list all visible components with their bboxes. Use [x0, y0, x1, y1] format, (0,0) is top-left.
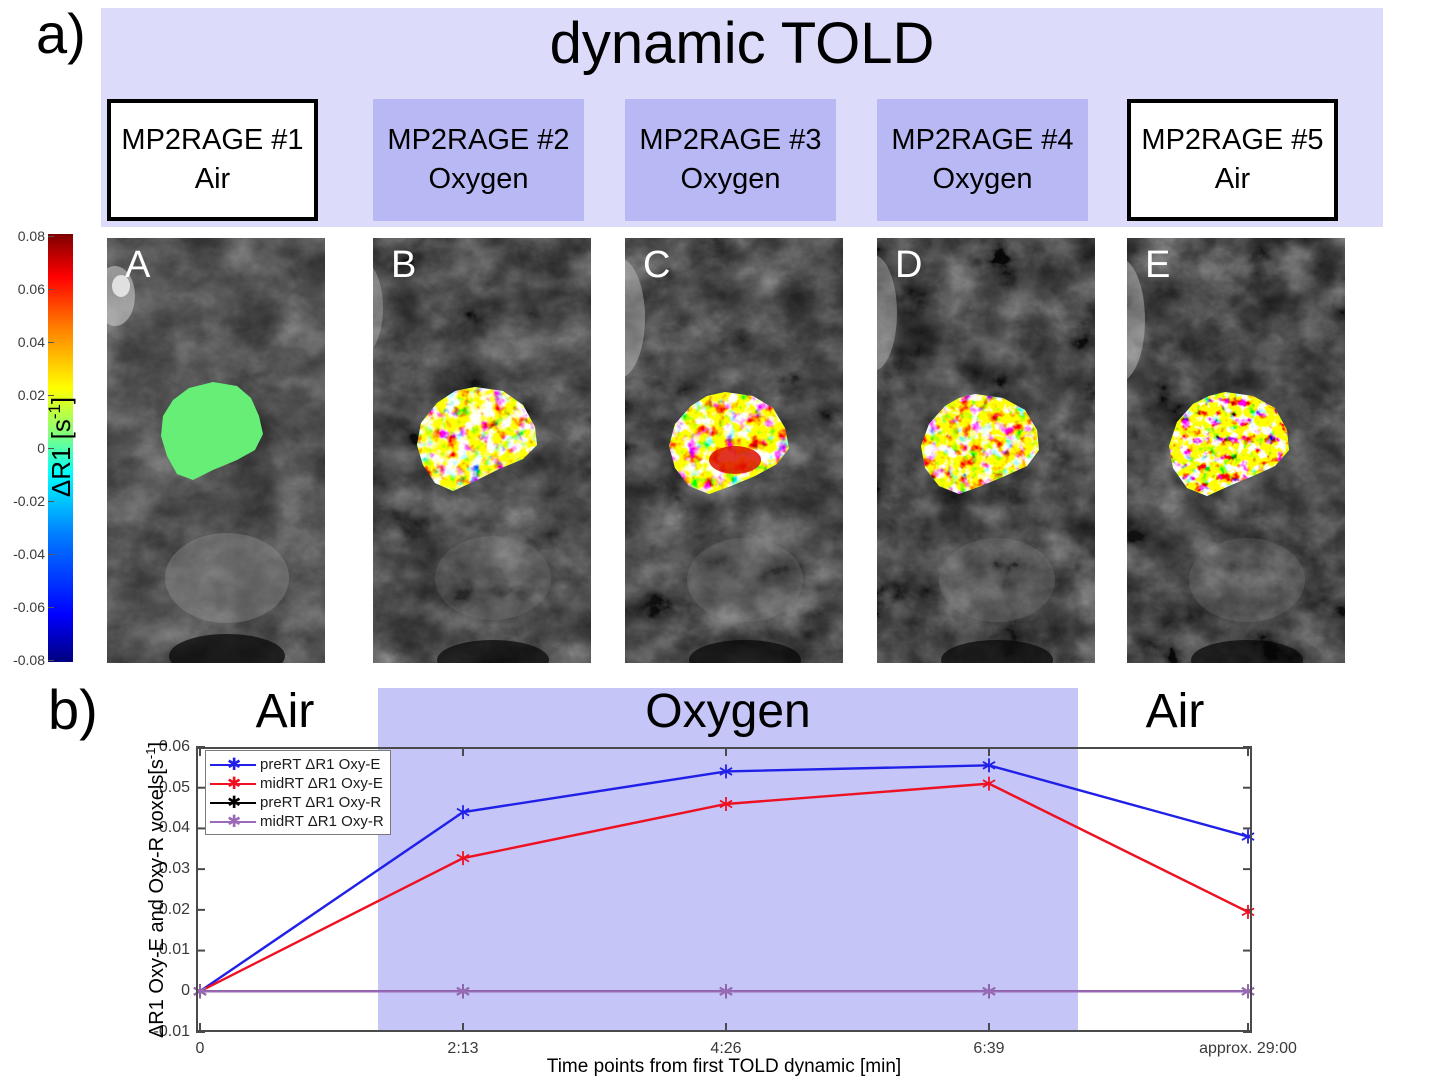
colorbar-tick-mark — [48, 236, 54, 237]
mri-panel-letter-c: C — [643, 246, 670, 284]
mp2rage-box-2: MP2RAGE #2 Oxygen — [373, 99, 584, 221]
colorbar-tick-mark — [48, 554, 54, 555]
colorbar: 0.08 0.06 0.04 0.02 0 -0.02 -0.04 -0.06 … — [0, 232, 101, 664]
mri-tile-c: C — [625, 238, 843, 663]
x-axis-title: Time points from first TOLD dynamic [min… — [196, 1056, 1252, 1078]
colorbar-tick-label: 0.08 — [18, 228, 45, 244]
colorbar-tick-mark — [48, 501, 54, 502]
mp2rage-gas-label: Oxygen — [681, 160, 781, 199]
legend-swatch: ✱ — [210, 796, 256, 810]
colorbar-tick-mark — [48, 289, 54, 290]
panel-b-label: b) — [48, 682, 98, 738]
colorbar-tick-mark — [48, 607, 54, 608]
chart-legend: ✱ preRT ΔR1 Oxy-E ✱ midRT ΔR1 Oxy-E ✱ pr… — [205, 750, 391, 835]
legend-label: preRT ΔR1 Oxy-E — [260, 756, 380, 773]
legend-item[interactable]: ✱ preRT ΔR1 Oxy-R — [210, 793, 384, 812]
legend-swatch: ✱ — [210, 815, 256, 829]
colorbar-tick-mark — [48, 342, 54, 343]
colorbar-axis-title: ΔR1 [s-1] — [45, 397, 77, 497]
y-axis-title: ΔR1 Oxy-E and Oxy-R voxels[s-1] — [143, 742, 169, 1038]
legend-item[interactable]: ✱ preRT ΔR1 Oxy-E — [210, 755, 384, 774]
legend-swatch: ✱ — [210, 777, 256, 791]
gas-phase-label-air-second: Air — [1100, 686, 1250, 739]
colorbar-tick-label: 0.04 — [18, 334, 45, 350]
mp2rage-seq-label: MP2RAGE #1 — [121, 121, 303, 160]
colorbar-tick-label: 0.06 — [18, 281, 45, 297]
panel-a-title: dynamic TOLD — [101, 14, 1383, 75]
mri-tile-e: E — [1127, 238, 1345, 663]
colorbar-tick-label: -0.06 — [13, 599, 45, 615]
roi-overlay-d — [915, 390, 1055, 520]
mri-panel-letter-d: D — [895, 246, 922, 284]
colorbar-tick-label: -0.04 — [13, 546, 45, 562]
mp2rage-box-1: MP2RAGE #1 Air — [107, 99, 318, 221]
mp2rage-gas-label: Oxygen — [429, 160, 529, 199]
y-tick-label: 0 — [181, 982, 190, 1000]
mp2rage-gas-label: Oxygen — [933, 160, 1033, 199]
mp2rage-seq-label: MP2RAGE #3 — [639, 121, 821, 160]
legend-label: preRT ΔR1 Oxy-R — [260, 794, 381, 811]
mri-panel-letter-e: E — [1145, 246, 1170, 284]
panel-a-label: a) — [36, 6, 86, 62]
mp2rage-gas-label: Air — [1215, 160, 1250, 199]
mri-tile-d: D — [877, 238, 1095, 663]
gas-phase-label-oxygen: Oxygen — [378, 686, 1078, 739]
legend-label: midRT ΔR1 Oxy-R — [260, 813, 384, 830]
roi-overlay-a — [151, 376, 283, 496]
mp2rage-seq-label: MP2RAGE #4 — [891, 121, 1073, 160]
mri-tile-a: A — [107, 238, 325, 663]
gas-phase-label-air-first: Air — [210, 686, 360, 739]
legend-item[interactable]: ✱ midRT ΔR1 Oxy-E — [210, 774, 384, 793]
mp2rage-gas-label: Air — [195, 160, 230, 199]
mp2rage-box-3: MP2RAGE #3 Oxygen — [625, 99, 836, 221]
colorbar-tick-label: 0 — [37, 440, 45, 456]
legend-label: midRT ΔR1 Oxy-E — [260, 775, 383, 792]
colorbar-tick-mark — [48, 660, 54, 661]
mri-panel-letter-a: A — [125, 246, 150, 284]
legend-swatch: ✱ — [210, 758, 256, 772]
mp2rage-box-4: MP2RAGE #4 Oxygen — [877, 99, 1088, 221]
mri-panel-letter-b: B — [391, 246, 416, 284]
roi-overlay-c — [663, 388, 803, 518]
colorbar-tick-label: -0.08 — [13, 652, 45, 668]
roi-overlay-e — [1163, 388, 1303, 520]
mp2rage-box-5: MP2RAGE #5 Air — [1127, 99, 1338, 221]
mp2rage-seq-label: MP2RAGE #2 — [387, 121, 569, 160]
mp2rage-seq-label: MP2RAGE #5 — [1141, 121, 1323, 160]
roi-overlay-b — [411, 383, 551, 513]
mri-tile-b: B — [373, 238, 591, 663]
legend-item[interactable]: ✱ midRT ΔR1 Oxy-R — [210, 812, 384, 831]
colorbar-tick-label: -0.02 — [13, 493, 45, 509]
colorbar-tick-label: 0.02 — [18, 387, 45, 403]
